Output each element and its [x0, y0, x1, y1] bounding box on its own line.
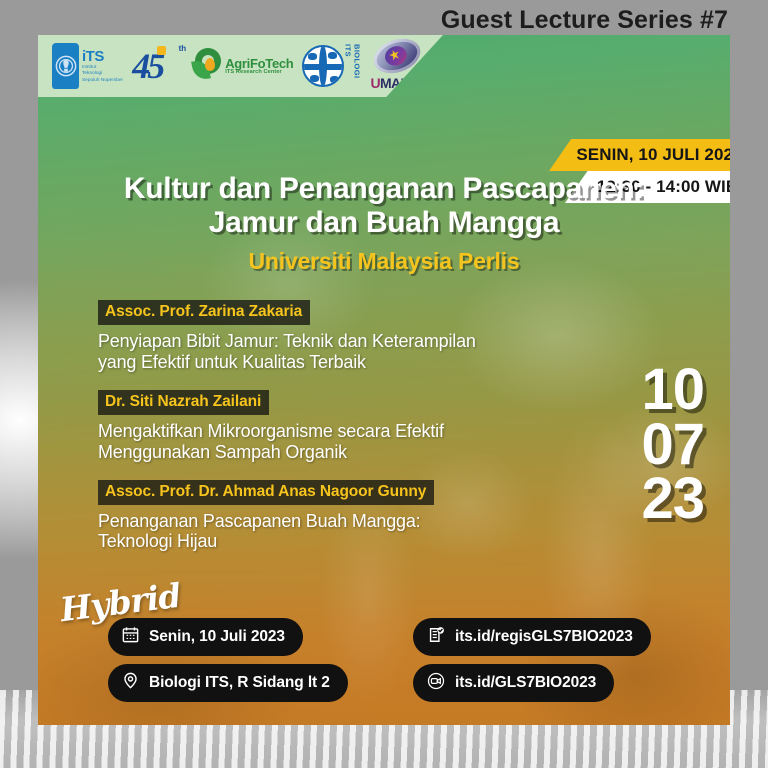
- speaker-topic-line-1: Penyiapan Bibit Jamur: Teknik dan Ketera…: [98, 331, 618, 352]
- speakers-list: Assoc. Prof. Zarina Zakaria Penyiapan Bi…: [98, 300, 618, 569]
- speaker-topic-line-2: yang Efektif untuk Kualitas Terbaik: [98, 352, 618, 373]
- speaker-item: Dr. Siti Nazrah Zailani Mengaktifkan Mik…: [98, 390, 618, 463]
- speaker-name: Assoc. Prof. Zarina Zakaria: [98, 300, 310, 325]
- agrifotech-gear-leaf-icon: [193, 50, 223, 82]
- speaker-topic-line-2: Teknologi Hijau: [98, 531, 618, 552]
- unimap-u: U: [370, 75, 380, 91]
- speaker-name: Assoc. Prof. Dr. Ahmad Anas Nagoor Gunny: [98, 480, 434, 505]
- speaker-item: Assoc. Prof. Dr. Ahmad Anas Nagoor Gunny…: [98, 480, 618, 553]
- big-date-year: 23: [641, 472, 704, 527]
- agrifotech-text: AgriFoTech ITS Research Center: [225, 57, 293, 76]
- unimap-wordmark: UMAP: [370, 75, 409, 91]
- globe-icon: [302, 45, 344, 87]
- series-title: Guest Lecture Series #7: [441, 6, 728, 35]
- agrifotech-wordmark: AgriFoTech: [225, 57, 293, 70]
- its-logo-tagline: InstitutTeknologiSepuluh Nopember: [82, 64, 123, 83]
- big-date-month: 07: [641, 418, 704, 473]
- its-anniversary-logo: 45 th: [132, 43, 184, 89]
- date-badge-label: SENIN, 10 JULI 2023: [576, 145, 730, 165]
- unimap-ring-icon: [369, 35, 425, 79]
- info-pill-meeting-label: its.id/GLS7BIO2023: [455, 674, 596, 692]
- its-logo: iTS InstitutTeknologiSepuluh Nopember: [52, 39, 123, 93]
- logo-bar: iTS InstitutTeknologiSepuluh Nopember 45…: [38, 35, 443, 97]
- speaker-topic: Mengaktifkan Mikroorganisme secara Efekt…: [98, 421, 618, 463]
- speaker-name: Dr. Siti Nazrah Zailani: [98, 390, 269, 415]
- poster-card: iTS InstitutTeknologiSepuluh Nopember 45…: [38, 35, 730, 725]
- speaker-topic: Penyiapan Bibit Jamur: Teknik dan Ketera…: [98, 331, 618, 373]
- speaker-topic-line-1: Penanganan Pascapanen Buah Mangga:: [98, 511, 618, 532]
- video-camera-icon: [426, 671, 446, 696]
- its-shield-icon: [52, 43, 79, 89]
- anniversary-dot-icon: [157, 46, 166, 55]
- info-pill-registration[interactable]: its.id/regisGLS7BIO2023: [413, 618, 651, 656]
- info-pill-date-label: Senin, 10 Juli 2023: [149, 628, 285, 646]
- info-pill-meeting[interactable]: its.id/GLS7BIO2023: [413, 664, 614, 702]
- institution-name: Universiti Malaysia Perlis: [38, 248, 730, 275]
- big-date-display: 10 07 23: [641, 363, 704, 527]
- title-line-1: Kultur dan Penanganan Pascapanen:: [38, 172, 730, 206]
- big-date-day: 10: [641, 363, 704, 418]
- date-badge: SENIN, 10 JULI 2023: [549, 139, 730, 171]
- info-pill-date: Senin, 10 Juli 2023: [108, 618, 303, 656]
- biologi-its-label: BIOLOGI ITS: [343, 44, 361, 91]
- title-block: Kultur dan Penanganan Pascapanen: Jamur …: [38, 172, 730, 275]
- unimap-logo: UMAP: [369, 40, 427, 92]
- info-pill-venue-label: Biologi ITS, R Sidang lt 2: [149, 674, 330, 692]
- anniversary-suffix: th: [179, 44, 187, 53]
- speaker-topic: Penanganan Pascapanen Buah Mangga: Tekno…: [98, 511, 618, 553]
- title-line-2: Jamur dan Buah Mangga: [38, 206, 730, 240]
- its-logo-wordmark: iTS: [82, 49, 123, 64]
- info-pill-registration-label: its.id/regisGLS7BIO2023: [455, 628, 633, 646]
- registration-form-icon: [426, 625, 446, 650]
- speaker-item: Assoc. Prof. Zarina Zakaria Penyiapan Bi…: [98, 300, 618, 373]
- speaker-topic-line-2: Menggunakan Sampah Organik: [98, 442, 618, 463]
- unimap-map: MAP: [380, 75, 409, 91]
- speaker-topic-line-1: Mengaktifkan Mikroorganisme secara Efekt…: [98, 421, 618, 442]
- calendar-icon: [121, 625, 140, 649]
- biologi-its-logo: BIOLOGI ITS: [302, 41, 360, 91]
- location-pin-icon: [121, 671, 140, 695]
- its-logo-text: iTS InstitutTeknologiSepuluh Nopember: [82, 49, 123, 83]
- info-pill-venue: Biologi ITS, R Sidang lt 2: [108, 664, 348, 702]
- page-title: Kultur dan Penanganan Pascapanen: Jamur …: [38, 172, 730, 239]
- agrifotech-logo: AgriFoTech ITS Research Center: [193, 39, 293, 93]
